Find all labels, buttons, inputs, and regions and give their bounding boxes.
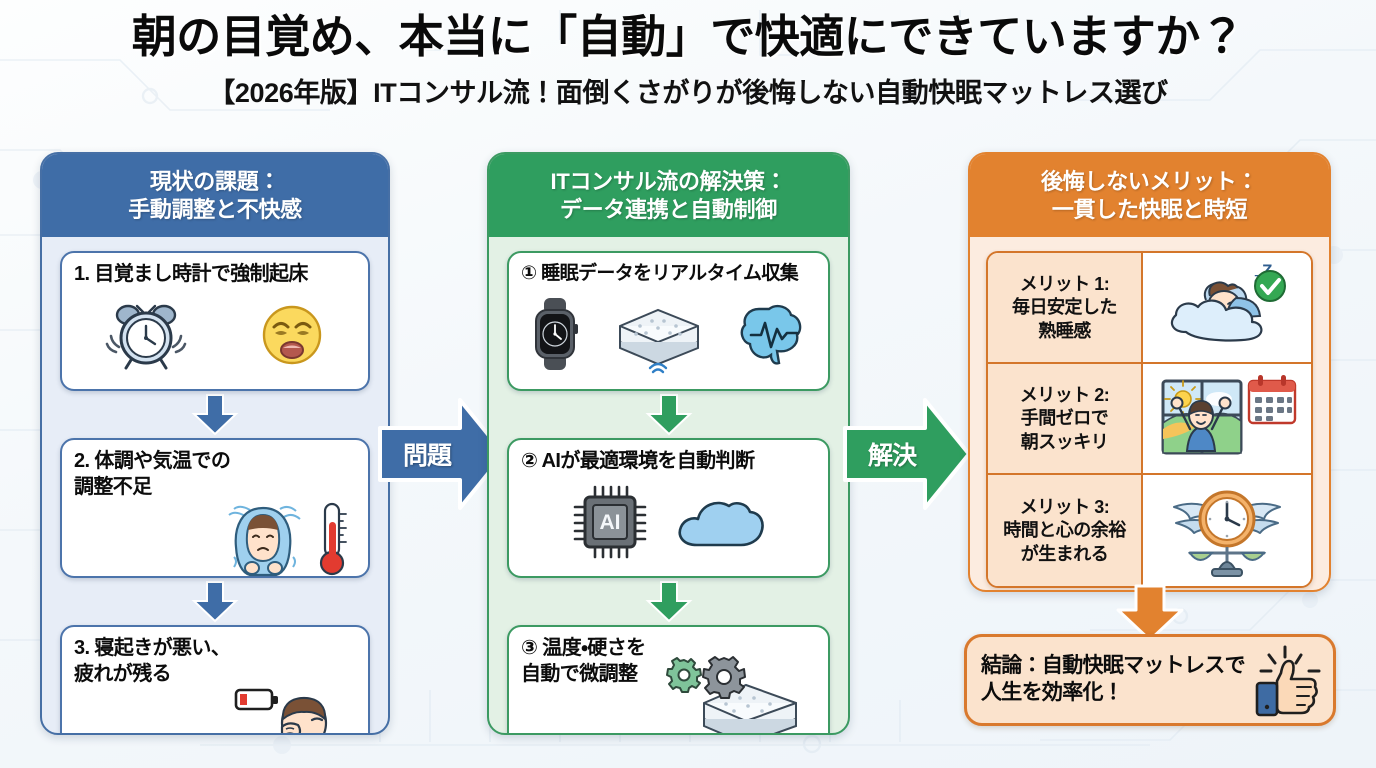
mattress-sensor-icon — [608, 296, 708, 372]
problem-heading-line2: 手動調整と不快感 — [48, 196, 382, 224]
problem-step-2-text: 2. 体調や気温での 調整不足 — [74, 449, 356, 499]
merit-heading-line1: 後悔しないメリット： — [976, 168, 1323, 196]
shivering-person-icon — [220, 501, 306, 577]
solution-heading-line1: ITコンサル流の解決策： — [495, 168, 842, 196]
problem-step-1-text: 1. 目覚まし時計で強制起床 — [74, 262, 356, 287]
solution-down-arrow-1 — [646, 395, 692, 435]
brain-wave-icon — [737, 299, 807, 369]
solution-step-3-art — [521, 653, 816, 735]
calendar-icon — [1245, 372, 1299, 428]
problem-step-2-card[interactable]: 2. 体調や気温での 調整不足 — [60, 438, 370, 578]
problem-step-2-art — [74, 500, 356, 578]
infographic-canvas: 朝の目覚め、本当に「自動」で快適にできていますか？ 【2026年版】ITコンサル… — [0, 0, 1376, 768]
solution-panel-header: ITコンサル流の解決策： データ連携と自動制御 — [489, 154, 848, 237]
solution-heading-line2: データ連携と自動制御 — [495, 196, 842, 224]
smart-watch-icon — [531, 296, 579, 372]
merit-row-1-label: メリット 1: 毎日安定した 熟睡感 — [988, 253, 1143, 362]
merit-row-1-art: z Z — [1143, 253, 1311, 362]
weary-face-icon — [260, 303, 324, 367]
problem-panel-body: 1. 目覚まし時計で強制起床 — [42, 237, 388, 735]
solution-step-1-card[interactable]: ① 睡眠データをリアルタイム収集 — [507, 251, 830, 391]
solution-step-2-card[interactable]: ② AIが最適環境を自動判断 AI — [507, 438, 830, 578]
page-header: 朝の目覚め、本当に「自動」で快適にできていますか？ 【2026年版】ITコンサル… — [0, 0, 1376, 140]
cloud-icon — [675, 491, 767, 553]
problem-heading-line1: 現状の課題： — [48, 168, 382, 196]
solution-connector-arrow: 解決 — [843, 392, 971, 516]
problem-step-3-art — [74, 687, 356, 735]
merit-row-1[interactable]: メリット 1: 毎日安定した 熟睡感 z Z — [988, 253, 1311, 364]
merit-row-3-art — [1143, 475, 1311, 586]
alarm-clock-icon — [107, 300, 185, 370]
merit-row-2-label: メリット 2: 手間ゼロで 朝スッキリ — [988, 364, 1143, 473]
gears-icon — [664, 655, 750, 701]
merit-panel-body: メリット 1: 毎日安定した 熟睡感 z Z — [970, 237, 1329, 592]
conclusion-text: 結論：自動快眠マットレスで 人生を効率化！ — [981, 653, 1251, 707]
solution-panel-body: ① 睡眠データをリアルタイム収集 — [489, 237, 848, 735]
svg-text:AI: AI — [599, 511, 620, 534]
winged-clock-icon — [1162, 481, 1292, 581]
solution-step-2-art: AI — [521, 475, 816, 569]
page-subtitle: 【2026年版】ITコンサル流！面倒くさがりが後悔しない自動快眠マットレス選び — [0, 71, 1376, 110]
page-title: 朝の目覚め、本当に「自動」で快適にできていますか？ — [0, 12, 1376, 62]
merit-row-2[interactable]: メリット 2: 手間ゼロで 朝スッキリ — [988, 364, 1311, 475]
problem-panel-header: 現状の課題： 手動調整と不快感 — [42, 154, 388, 237]
solution-step-1-text: ① 睡眠データをリアルタイム収集 — [521, 262, 816, 286]
merit-row-2-art — [1143, 364, 1311, 473]
merit-table: メリット 1: 毎日安定した 熟睡感 z Z — [986, 251, 1313, 588]
ai-chip-icon: AI — [571, 483, 649, 561]
solution-step-1-art — [521, 286, 816, 381]
thumbs-up-icon — [1251, 643, 1325, 717]
solution-panel: ITコンサル流の解決策： データ連携と自動制御 ① 睡眠データをリアルタイム収集 — [487, 152, 850, 735]
problem-step-1-art — [74, 288, 356, 382]
thermometer-icon — [316, 500, 350, 578]
problem-step-3-card[interactable]: 3. 寝起きが悪い、 疲れが残る — [60, 625, 370, 735]
problem-step-1-card[interactable]: 1. 目覚まし時計で強制起床 — [60, 251, 370, 391]
solution-step-3-card[interactable]: ③ 温度・硬さを 自動で微調整 — [507, 625, 830, 735]
problem-panel: 現状の課題： 手動調整と不快感 1. 目覚まし時計で強制起床 — [40, 152, 390, 735]
conclusion-box[interactable]: 結論：自動快眠マットレスで 人生を効率化！ — [964, 634, 1336, 726]
merit-panel: 後悔しないメリット： 一貫した快眠と時短 メリット 1: 毎日安定した 熟睡感 … — [968, 152, 1331, 592]
problem-down-arrow-2 — [192, 582, 238, 622]
solution-connector-label: 解決 — [849, 436, 935, 472]
merit-row-3-label: メリット 3: 時間と心の余裕 が生まれる — [988, 475, 1143, 586]
solution-down-arrow-2 — [646, 582, 692, 622]
solution-step-2-text: ② AIが最適環境を自動判断 — [521, 449, 816, 474]
merit-panel-header: 後悔しないメリット： 一貫した快眠と時短 — [970, 154, 1329, 237]
merit-row-3[interactable]: メリット 3: 時間と心の余裕 が生まれる — [988, 475, 1311, 586]
sleeping-on-cloud-icon: z Z — [1166, 260, 1288, 356]
problem-down-arrow-1 — [192, 395, 238, 435]
morning-window-stretch-icon — [1155, 373, 1247, 465]
problem-step-3-text: 3. 寝起きが悪い、 疲れが残る — [74, 636, 356, 686]
low-battery-icon — [234, 686, 280, 712]
problem-connector-label: 問題 — [384, 436, 470, 472]
merit-heading-line2: 一貫した快眠と時短 — [976, 196, 1323, 224]
